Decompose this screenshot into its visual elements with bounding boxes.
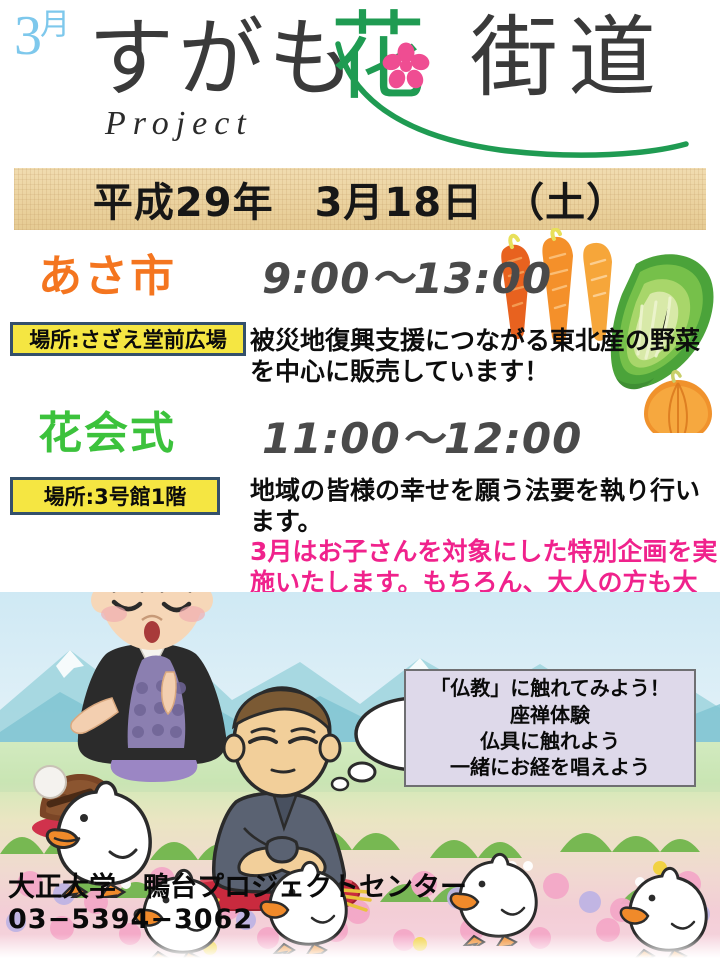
event-date-banner: 平成29年 3月18日 （土） xyxy=(14,168,706,230)
activity-line-2: 座禅体験 xyxy=(510,702,590,728)
activity-line-3: 仏具に触れよう xyxy=(480,728,620,754)
scene-bottom-fade xyxy=(0,934,720,960)
organization-name: 大正大学 鴨台プロジェクトセンター xyxy=(8,872,528,904)
logo-month-number: 3 xyxy=(14,5,40,67)
phone-number: 03−5394−3062 xyxy=(8,904,528,936)
logo-month: 3月 xyxy=(14,8,68,64)
poster-logo-header: 3月 すがも 花 街道 Project xyxy=(0,0,720,160)
description-morning-market: 被災地復興支援につながる東北産の野菜を中心に販売しています！ xyxy=(250,326,720,387)
activity-line-1: 「仏教」に触れてみよう！ xyxy=(430,675,669,701)
place-box-flower-ceremony: 場所:3号館1階 xyxy=(10,477,220,515)
cherry-blossom-icon xyxy=(382,42,430,90)
description-flower-ceremony-main: 地域の皆様の幸せを願う法要を執り行います。 xyxy=(250,476,700,536)
activity-line-4: 一緒にお経を唱えよう xyxy=(450,754,650,780)
place-label-flower-ceremony: 場所:3号館1階 xyxy=(44,481,187,511)
logo-sugamo-text: すがも xyxy=(88,16,358,102)
place-box-morning-market: 場所:さざえ堂前広場 xyxy=(10,322,246,356)
footer-contact: 大正大学 鴨台プロジェクトセンター 03−5394−3062 xyxy=(8,872,528,936)
buddhism-activities-box: 「仏教」に触れてみよう！ 座禅体験 仏具に触れよう 一緒にお経を唱えよう xyxy=(404,669,696,787)
event-date-text: 平成29年 3月18日 （土） xyxy=(93,170,627,228)
section-title-flower-ceremony: 花会式 xyxy=(38,412,176,456)
logo-month-unit: 月 xyxy=(40,8,68,41)
logo-project-text: Project xyxy=(105,105,253,143)
section-time-flower-ceremony: 11:00〜12:00 xyxy=(262,418,582,460)
section-title-morning-market: あさ市 xyxy=(38,255,176,299)
place-label-morning-market: 場所:さざえ堂前広場 xyxy=(29,324,226,354)
section-time-morning-market: 9:00〜13:00 xyxy=(262,258,552,300)
logo-kaidou-text: 街道 xyxy=(470,16,666,104)
